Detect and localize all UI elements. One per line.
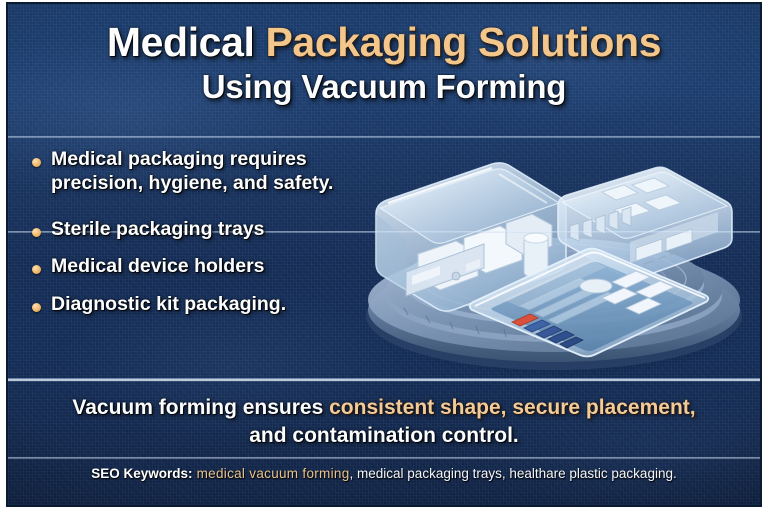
page-title: Medical Packaging Solutions — [8, 22, 760, 63]
list-item: Medical packaging requires precision, hy… — [32, 148, 404, 196]
list-item-label: Sterile packaging trays — [51, 218, 265, 242]
page-subtitle: Using Vacuum Forming — [8, 70, 760, 103]
seo-keywords-label: SEO Keywords: — [91, 466, 192, 481]
feature-bullet-list: Medical packaging requires precision, hy… — [32, 148, 404, 321]
list-item: Diagnostic kit packaging. — [32, 293, 404, 317]
bullet-dot-icon — [32, 158, 41, 167]
title-text-primary: Medical — [107, 19, 266, 65]
summary-text-highlight: consistent shape, secure placement, — [329, 396, 695, 419]
divider-under-title — [8, 136, 760, 138]
bullet-dot-icon — [32, 303, 41, 312]
seo-keywords-line: SEO Keywords: medical vacuum forming, me… — [8, 466, 760, 482]
title-text-accent: Packaging Solutions — [265, 19, 661, 65]
seo-keywords-secondary: , medical packaging trays, healthare pla… — [350, 466, 677, 481]
divider-above-seo — [8, 457, 760, 459]
list-item: Medical device holders — [32, 255, 404, 279]
summary-text-lead: Vacuum forming ensures — [72, 396, 329, 419]
bullet-dot-icon — [32, 265, 41, 274]
seo-keyword-primary: medical vacuum forming — [193, 466, 350, 481]
list-item: Sterile packaging trays — [32, 218, 404, 242]
infographic-poster: Medical Packaging Solutions Using Vacuum… — [6, 2, 762, 507]
list-item-label: Medical device holders — [51, 255, 265, 279]
list-item-label: Diagnostic kit packaging. — [51, 293, 286, 317]
bullet-dot-icon — [32, 228, 41, 237]
summary-statement: Vacuum forming ensures consistent shape,… — [8, 394, 760, 450]
divider-above-summary — [8, 378, 760, 382]
title-block: Medical Packaging Solutions Using Vacuum… — [8, 22, 760, 103]
summary-text-tail: and contamination control. — [249, 424, 519, 447]
medical-trays-illustration — [344, 130, 762, 380]
list-item-label: Medical packaging requires precision, hy… — [51, 148, 404, 196]
